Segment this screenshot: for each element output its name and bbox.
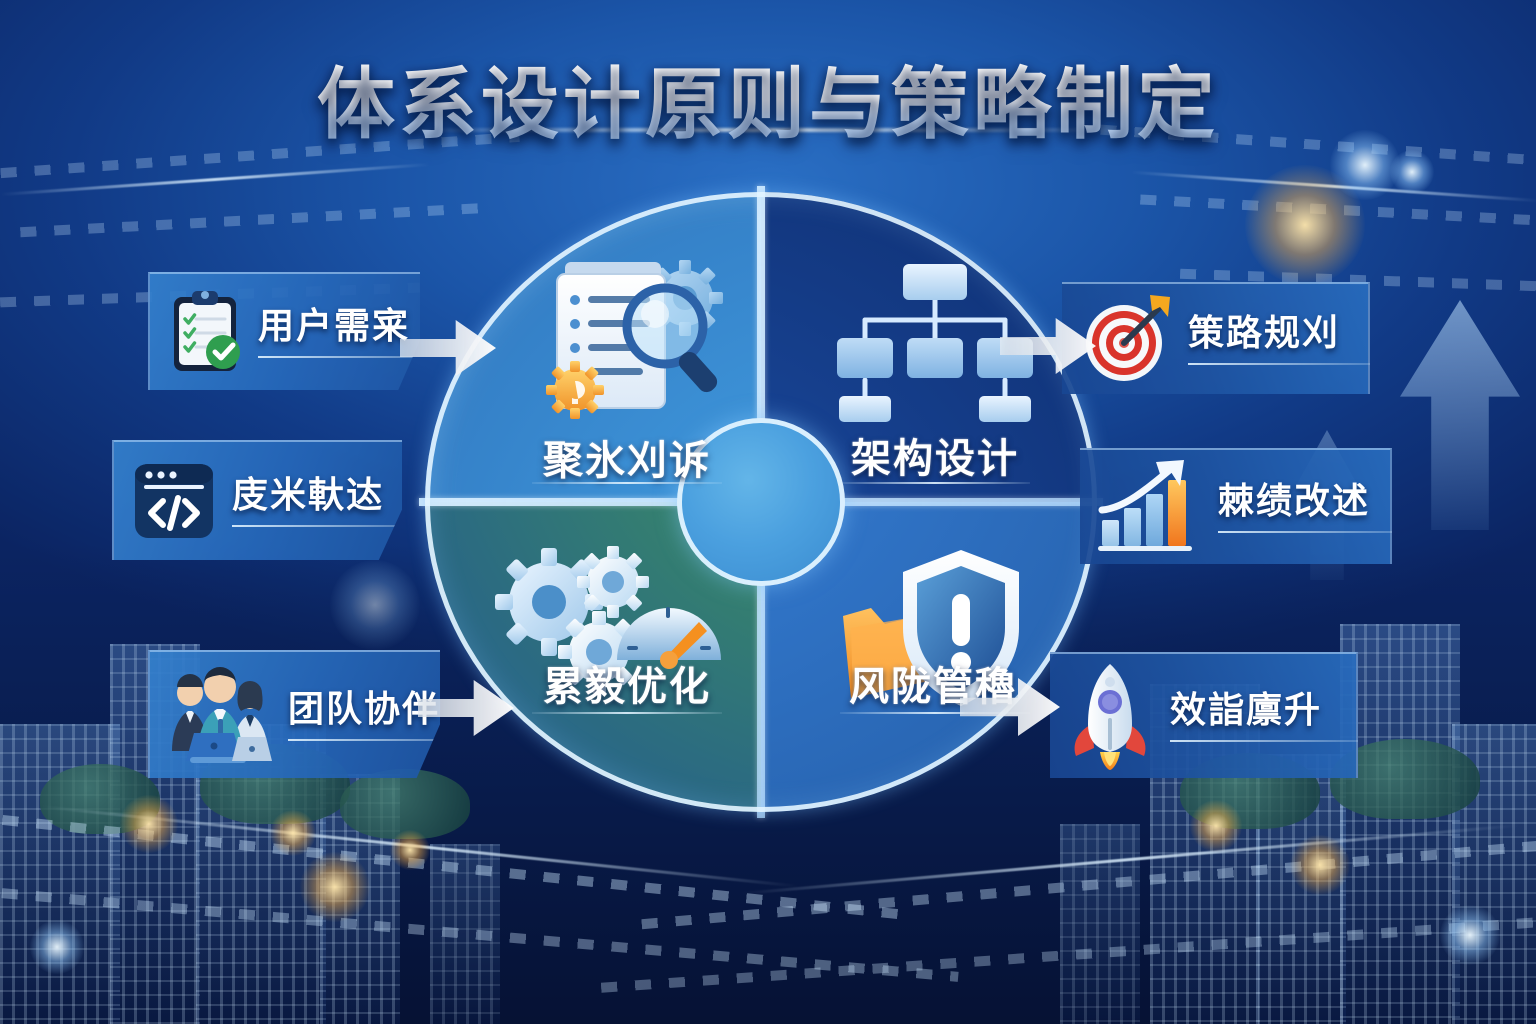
banner-underline <box>1170 740 1390 742</box>
document-magnifier-gear-icon <box>525 254 755 434</box>
background-street-light <box>1190 800 1242 852</box>
quadrant-underline <box>532 712 722 714</box>
clipboard-checklist-icon <box>168 289 242 375</box>
page-title: 体系设计原则与策略制定 <box>317 42 1219 154</box>
banner-team-collaboration[interactable]: 团队协伴 <box>148 650 440 778</box>
quadrant-underline <box>532 482 722 484</box>
quadrant-underline <box>840 482 1030 484</box>
team-people-icon <box>168 667 272 763</box>
background-street-light <box>300 852 370 922</box>
bar-chart-growth-icon <box>1098 460 1202 554</box>
quadrant-label-architecture-design: 架构设计 <box>805 426 1065 484</box>
banner-continuous-improvement[interactable]: 棘绩改述 <box>1080 448 1392 564</box>
background-street-light <box>270 810 316 856</box>
rocket-icon <box>1068 662 1154 770</box>
background-street-light <box>1290 835 1350 895</box>
background-building <box>1340 624 1460 1024</box>
process-cycle-diagram: 聚氷刈诉 <box>425 192 1097 812</box>
code-window-icon <box>132 461 216 541</box>
background-street-light <box>1440 905 1500 965</box>
banner-label-efficiency-boost: 效詣廪升 <box>1170 690 1390 730</box>
background-street-light <box>30 920 84 974</box>
background-light-glow <box>1390 150 1434 194</box>
banner-user-requirements[interactable]: 用户需宷 <box>148 272 420 390</box>
background-street-light <box>390 830 430 870</box>
infographic-canvas: 体系设计原则与策略制定 <box>0 0 1536 1024</box>
quadrant-label-system-optimization: 累毅优化 <box>497 654 757 712</box>
target-dartboard-icon <box>1080 293 1172 385</box>
banner-tech-standards[interactable]: 庋米軑迏 <box>112 440 402 560</box>
quadrant-label-requirements-analysis: 聚氷刈诉 <box>497 428 757 486</box>
banner-strategy-planning[interactable]: 策路规刈 <box>1062 282 1370 394</box>
page-title-container: 体系设计原则与策略制定 <box>0 42 1536 154</box>
background-building <box>1060 824 1140 1024</box>
banner-efficiency-boost[interactable]: 效詣廪升 <box>1050 652 1358 778</box>
background-street-light <box>120 795 178 853</box>
